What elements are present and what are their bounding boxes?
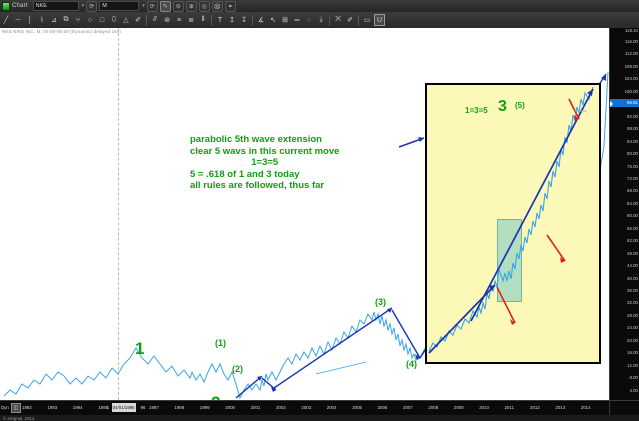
annotation-line-2: clear 5 wavs in this current move	[190, 146, 339, 158]
calendar-icon[interactable]: ◫	[11, 403, 21, 413]
zoom-in-button[interactable]: ⊕	[186, 1, 197, 12]
grid-tool[interactable]: ⊞	[280, 14, 290, 26]
text-tool[interactable]: T	[215, 14, 225, 26]
date-axis[interactable]: Dyn ◫ 199219931994199504/01/199619619971…	[0, 400, 609, 415]
fibonacci-fan-tool[interactable]: ≡	[174, 14, 184, 26]
date-tick: 2013	[555, 405, 565, 410]
price-tick: 16.00	[627, 350, 638, 355]
inset-wave-five-label: (5)	[515, 101, 525, 110]
gann-fan-tool[interactable]: ⦀	[198, 14, 208, 26]
toolbar-separator	[252, 15, 253, 26]
price-tick: 8.00	[629, 375, 638, 380]
date-tick: 96	[141, 405, 146, 410]
crosshair-button[interactable]: ⨂	[212, 1, 223, 12]
inset-highlight-box	[497, 219, 522, 302]
bar-pattern-tool[interactable]: ═	[292, 14, 302, 26]
pitchfork-tool[interactable]: ⑂	[73, 14, 83, 26]
date-tick: 2004	[327, 405, 337, 410]
price-tick: 80.00	[627, 151, 638, 156]
price-tick: 104.00	[625, 76, 638, 81]
price-tick: 24.00	[627, 325, 638, 330]
chart-icon	[2, 2, 10, 11]
measure-tool[interactable]: ⤓	[316, 14, 326, 26]
date-tick: 2011	[505, 405, 514, 410]
inset-equality-label: 1=3=5	[465, 106, 488, 115]
wave-label-1: 1	[135, 339, 144, 359]
esignal-chart-window: Chart NKE ▾ ⟳ M ▾ ⟳ ✎ ⊖ ⊕ ◎ ⨂ ⚭ ╱─│⌇⊿⧉⑂○…	[0, 0, 639, 414]
date-tick: 1994	[73, 405, 83, 410]
date-tick: 1992	[22, 405, 32, 410]
price-tick: 56.00	[627, 226, 638, 231]
trendline-tool[interactable]: ╱	[1, 14, 11, 26]
wave-label-sub4: (4)	[406, 359, 417, 369]
price-tick: 116.00	[625, 39, 638, 44]
price-tick: 92.00	[627, 114, 638, 119]
price-tick: 112.00	[625, 51, 638, 56]
interval-input[interactable]: M	[99, 1, 139, 11]
dynamic-mode-label: Dyn	[1, 405, 9, 410]
date-tick: 2001	[251, 405, 261, 410]
date-tick: 2002	[276, 405, 286, 410]
price-tick: 68.00	[627, 188, 638, 193]
date-tick: 2005	[352, 405, 362, 410]
current-price-value: 96.81	[627, 100, 638, 105]
current-price-badge: 96.81	[610, 99, 639, 107]
date-tick: 1	[107, 405, 109, 410]
regression-tool[interactable]: ∡	[256, 14, 266, 26]
window-title: Chart	[12, 3, 28, 9]
toolbar-separator	[358, 15, 359, 26]
price-tick: 108.00	[625, 64, 638, 69]
date-tick: 1999	[200, 405, 210, 410]
date-tick: 2010	[479, 405, 489, 410]
inset-wave-three-label: 3	[498, 98, 507, 116]
comment-tool[interactable]: ▭	[362, 14, 372, 26]
chart-signature: © eSignal, 2014	[3, 416, 34, 421]
ellipse-tool[interactable]: ○	[85, 14, 95, 26]
triangle-tool[interactable]: △	[121, 14, 131, 26]
toolbar-separator	[329, 15, 330, 26]
chart-header-label: NKE NIKE INC, M, 00:00-00:00 (Dynamic) d…	[2, 29, 121, 34]
symbol-dropdown-caret-icon[interactable]: ▾	[82, 3, 85, 9]
date-tick: 2014	[581, 405, 591, 410]
annotation-line-4: 5 = .618 of 1 and 3 today	[190, 169, 339, 181]
gann-grid-tool[interactable]: ≣	[186, 14, 196, 26]
interval-dropdown-caret-icon[interactable]: ▾	[142, 3, 145, 9]
horizontal-line-tool[interactable]: ─	[13, 14, 23, 26]
arrow-down-tool[interactable]: ↧	[239, 14, 249, 26]
arrow-marker-tool[interactable]: ↖	[268, 14, 278, 26]
price-tick: 44.00	[627, 263, 638, 268]
price-tick: 40.00	[627, 276, 638, 281]
cycle-tool[interactable]: ◌	[304, 14, 314, 26]
selected-date-badge: 04/01/1996	[112, 403, 136, 412]
annotation-text: parabolic 5th wave extension clear 5 wav…	[190, 134, 339, 192]
date-tick: 2003	[301, 405, 311, 410]
price-tick: 64.00	[627, 201, 638, 206]
price-tick: 52.00	[627, 238, 638, 243]
fibonacci-circle-tool[interactable]: ⊛	[162, 14, 172, 26]
price-tick: 36.00	[627, 288, 638, 293]
annotation-line-5: all rules are followed, thus far	[190, 180, 339, 192]
price-tick: 48.00	[627, 251, 638, 256]
price-tick: 4.00	[629, 388, 638, 393]
toolbar-separator	[211, 15, 212, 26]
dynamic-mode-button[interactable]: Dyn ◫	[1, 403, 21, 412]
price-tick: 84.00	[627, 139, 638, 144]
price-tick: 72.00	[627, 176, 638, 181]
undo-tool[interactable]: U	[374, 14, 385, 26]
annotation-line-1: parabolic 5th wave extension	[190, 134, 339, 146]
guide-line	[316, 362, 366, 374]
date-tick: 2000	[225, 405, 235, 410]
date-tick: 1993	[47, 405, 57, 410]
target-button[interactable]: ◎	[199, 1, 210, 12]
axis-corner	[609, 400, 639, 415]
drawing-toolbar: ╱─│⌇⊿⧉⑂○□⬯△✐⫻⊛≡≣⦀T↥↧∡↖⊞═◌⤓⨉✐▭U	[0, 12, 639, 29]
date-tick: 2007	[403, 405, 413, 410]
interval-value: M	[102, 3, 107, 9]
wave-label-sub2: (2)	[232, 364, 243, 374]
price-axis[interactable]: 118.34116.00112.00108.00104.00100.0096.8…	[609, 28, 639, 400]
price-tick: 32.00	[627, 300, 638, 305]
price-tick: 76.00	[627, 164, 638, 169]
toolbar-separator	[146, 15, 147, 26]
zigzag-tool[interactable]: ⌇	[37, 14, 47, 26]
wave-label-sub1: (1)	[215, 338, 226, 348]
circle-tool[interactable]: ⬯	[109, 14, 119, 26]
crosshair-vertical-line	[118, 28, 119, 400]
wave-label-sub3: (3)	[375, 297, 386, 307]
date-tick: 2006	[378, 405, 388, 410]
price-tick: 20.00	[627, 338, 638, 343]
arrow-up-tool[interactable]: ↥	[227, 14, 237, 26]
zoom-out-button[interactable]: ⊖	[173, 1, 184, 12]
date-tick: 2012	[530, 405, 540, 410]
channel-tool[interactable]: ⧉	[61, 14, 71, 26]
symbol-value: NKE	[36, 3, 47, 9]
price-marker-arrow-icon	[610, 101, 613, 107]
date-tick: 1998	[174, 405, 184, 410]
price-tick: 28.00	[627, 313, 638, 318]
price-tick: 100.00	[625, 89, 638, 94]
delete-drawing-tool[interactable]: ⨉	[333, 14, 343, 26]
eyedropper-tool[interactable]: ✐	[345, 14, 355, 26]
date-tick: 1997	[149, 405, 159, 410]
price-tick: 118.34	[625, 28, 638, 33]
reload-button[interactable]: ⟳	[147, 1, 158, 12]
vertical-line-tool[interactable]: │	[25, 14, 35, 26]
link-button[interactable]: ⚭	[225, 1, 236, 12]
price-tick: 88.00	[627, 126, 638, 131]
inset-zoom-panel[interactable]: 1=3=5 3 (5)	[425, 83, 601, 364]
symbol-input[interactable]: NKE	[33, 1, 79, 11]
price-tick: 60.00	[627, 213, 638, 218]
polyline-tool[interactable]: ⊿	[49, 14, 59, 26]
rectangle-tool[interactable]: □	[97, 14, 107, 26]
fibonacci-retracement-tool[interactable]: ⫻	[150, 14, 160, 26]
date-tick: 2008	[428, 405, 438, 410]
chart-canvas[interactable]: NKE NIKE INC, M, 00:00-00:00 (Dynamic) d…	[0, 28, 639, 400]
pencil-button[interactable]: ✎	[160, 1, 171, 12]
refresh-button[interactable]: ⟳	[86, 1, 97, 12]
freehand-tool[interactable]: ✐	[133, 14, 143, 26]
annotation-line-3: 1=3=5	[190, 157, 339, 169]
date-tick: 2009	[454, 405, 464, 410]
price-tick: 12.00	[627, 363, 638, 368]
